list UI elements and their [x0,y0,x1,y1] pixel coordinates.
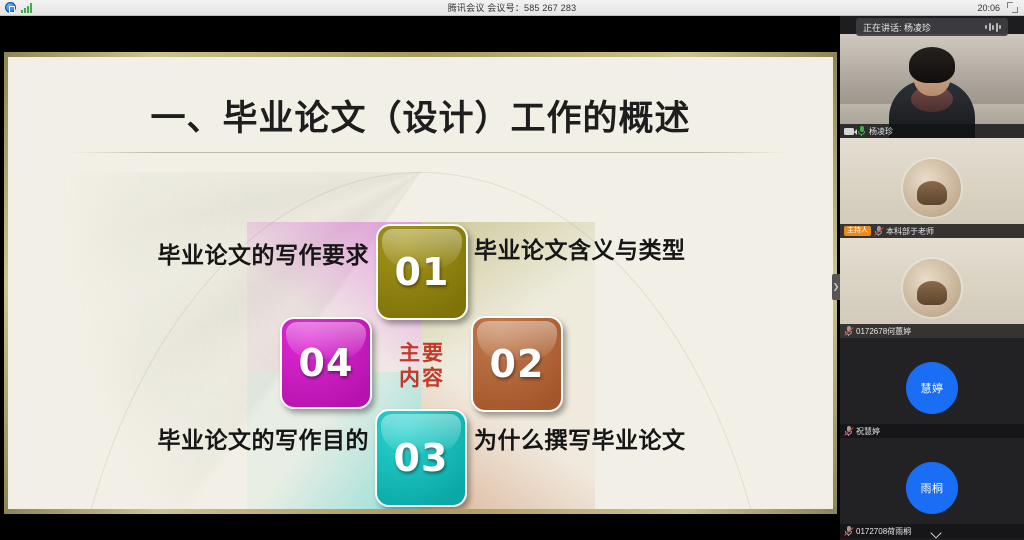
shared-screen-stage: 一、毕业论文（设计）工作的概述 毕业论文的写作要求 毕业论文含义与类型 毕业论文… [0,16,840,540]
participant-name: 0172708荷雨桐 [856,526,911,537]
avatar: 雨桐 [906,462,958,514]
slide-center-label: 主要 内容 [386,332,458,400]
center-label-line1: 主要 [399,341,445,366]
participant-thumbnail [840,138,1024,238]
mic-muted-icon [844,326,853,336]
avatar: 慧婷 [906,362,958,414]
participant-name: 0172678何蕙婷 [856,326,911,337]
participant-name: 本科部于老师 [886,226,934,237]
participant-namebar: 主持人 本科部于老师 [840,224,1024,238]
slide-label-bottom-left: 毕业论文的写作目的 [154,427,369,456]
slide-label-top-left: 毕业论文的写作要求 [154,242,369,271]
titlebar-right: 20:06 [874,2,1024,13]
participant-video-tile[interactable] [840,238,1024,338]
mic-muted-icon [844,526,853,536]
person-hair [909,47,955,83]
slide-tile-02: 02 [471,316,563,412]
fullscreen-icon[interactable] [1007,2,1018,13]
slide-label-bottom-right: 为什么撰写毕业论文 [474,427,689,456]
clock-label: 20:06 [977,3,1000,13]
participant-video-tile[interactable] [840,138,1024,238]
participant-thumbnail [840,238,1024,338]
participant-video-tile[interactable]: 雨桐 [840,438,1024,538]
audio-wave-icon [985,23,1001,32]
participant-video-tile[interactable] [840,34,1024,138]
participant-name: 杨凌珍 [869,126,893,137]
participant-panel: 正在讲话: 杨凌珍 杨凌珍 主持人 本科部于老师 [840,16,1024,540]
participant-video-tile[interactable]: 慧婷 [840,338,1024,438]
thumbnail-subject [903,159,961,217]
slide-tile-04: 04 [280,317,372,409]
mic-muted-icon [874,226,883,236]
host-badge: 主持人 [844,226,871,236]
mic-on-icon [857,126,866,136]
participant-namebar: 祝慧婷 [840,424,1024,438]
slide-title: 一、毕业论文（设计）工作的概述 [4,90,837,141]
chevron-right-icon: ❯ [833,283,840,291]
participant-namebar: 杨凌珍 [840,124,1024,138]
active-speaker-label: 正在讲话: 杨凌珍 [863,21,931,34]
participant-name: 祝慧婷 [856,426,880,437]
slide-tile-01: 01 [376,224,468,320]
window-title: 腾讯会议 会议号：585 267 283 [150,1,874,14]
thumbnail-subject [903,259,961,317]
slide-label-top-right: 毕业论文含义与类型 [474,237,704,266]
active-speaker-banner: 正在讲话: 杨凌珍 [856,18,1008,36]
window-titlebar: 腾讯会议 会议号：585 267 283 20:06 [0,0,1024,16]
shield-icon[interactable] [5,2,16,13]
slide-tile-03: 03 [375,409,467,507]
camera-icon [844,128,854,135]
title-divider [70,152,787,153]
center-label-line2: 内容 [399,366,445,391]
presentation-slide: 一、毕业论文（设计）工作的概述 毕业论文的写作要求 毕业论文含义与类型 毕业论文… [4,52,837,514]
participant-namebar: 0172678何蕙婷 [840,324,1024,338]
mic-muted-icon [844,426,853,436]
chevron-down-icon[interactable] [932,528,942,538]
panel-collapse-handle[interactable]: ❯ [832,274,840,300]
presenter-video [840,34,1024,138]
signal-bars-icon[interactable] [21,2,32,13]
titlebar-left-icons [0,2,150,13]
